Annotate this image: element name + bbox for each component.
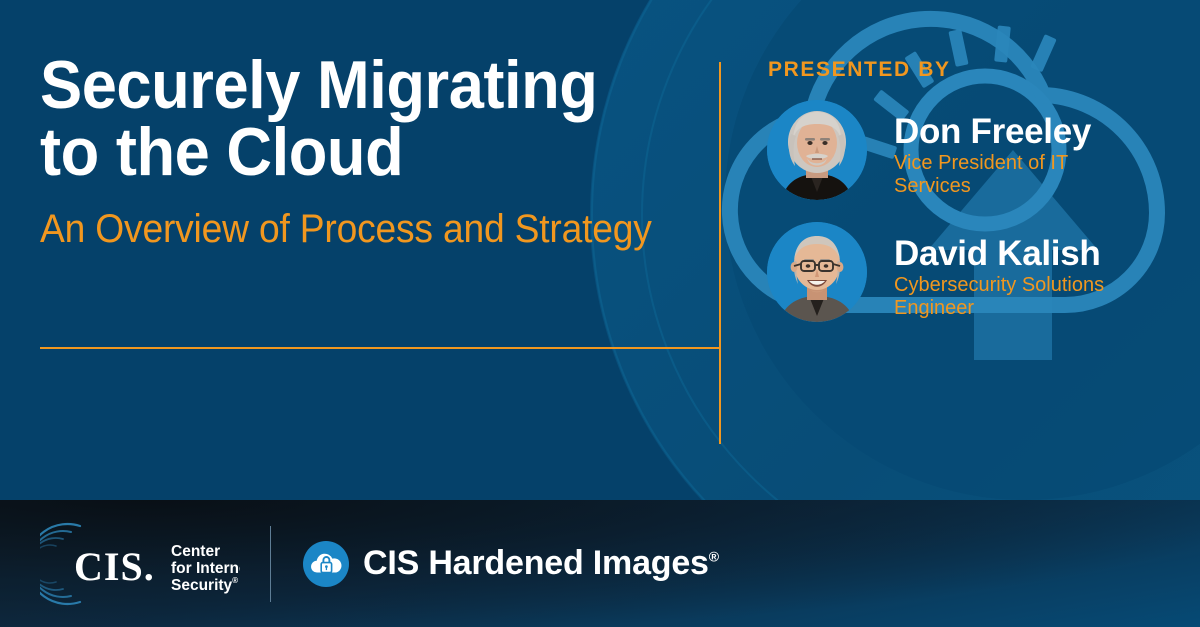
presenter-name: David Kalish <box>894 236 1124 272</box>
cis-tagline: Center for Internet Security® <box>171 543 240 594</box>
svg-text:for Internet: for Internet <box>171 560 240 577</box>
hero-text-block: Securely Migrating to the Cloud An Overv… <box>40 52 700 251</box>
registered-trademark: ® <box>709 549 719 565</box>
horizontal-divider-rule <box>40 347 721 349</box>
presenter-title: Vice President of IT Services <box>894 152 1124 199</box>
presented-by-label: PRESENTED BY <box>768 58 1187 82</box>
banner-stage: Securely Migrating to the Cloud An Overv… <box>0 0 1200 500</box>
product-name: CIS Hardened Images <box>363 544 709 582</box>
page-subtitle: An Overview of Process and Strategy <box>40 207 654 251</box>
footer-divider <box>270 526 271 602</box>
svg-text:Security®: Security® <box>171 576 238 594</box>
webinar-promo-banner: Securely Migrating to the Cloud An Overv… <box>0 0 1200 627</box>
presenter-text: David Kalish Cybersecurity Solutions Eng… <box>894 222 1124 321</box>
presenter-title: Cybersecurity Solutions Engineer <box>894 274 1124 321</box>
footer-bar: CIS. Center for Internet Security® <box>0 500 1200 627</box>
avatar <box>767 100 867 200</box>
avatar <box>767 222 867 322</box>
presenter-item: Don Freeley Vice President of IT Service… <box>767 100 1187 200</box>
cis-wordmark: CIS. <box>74 544 155 589</box>
cis-hardened-images-wordmark: CIS Hardened Images® <box>363 544 719 583</box>
presenters-block: PRESENTED BY <box>767 58 1187 344</box>
presenter-text: Don Freeley Vice President of IT Service… <box>894 100 1124 199</box>
svg-text:Center: Center <box>171 543 220 560</box>
cis-hardened-images-lockup: CIS Hardened Images® <box>303 541 719 587</box>
cloud-lock-icon <box>303 541 349 587</box>
vertical-divider-rule <box>719 62 721 444</box>
page-title: Securely Migrating to the Cloud <box>40 52 654 185</box>
cis-logo: CIS. Center for Internet Security® <box>40 520 240 608</box>
presenter-item: David Kalish Cybersecurity Solutions Eng… <box>767 222 1187 322</box>
presenter-name: Don Freeley <box>894 114 1124 150</box>
